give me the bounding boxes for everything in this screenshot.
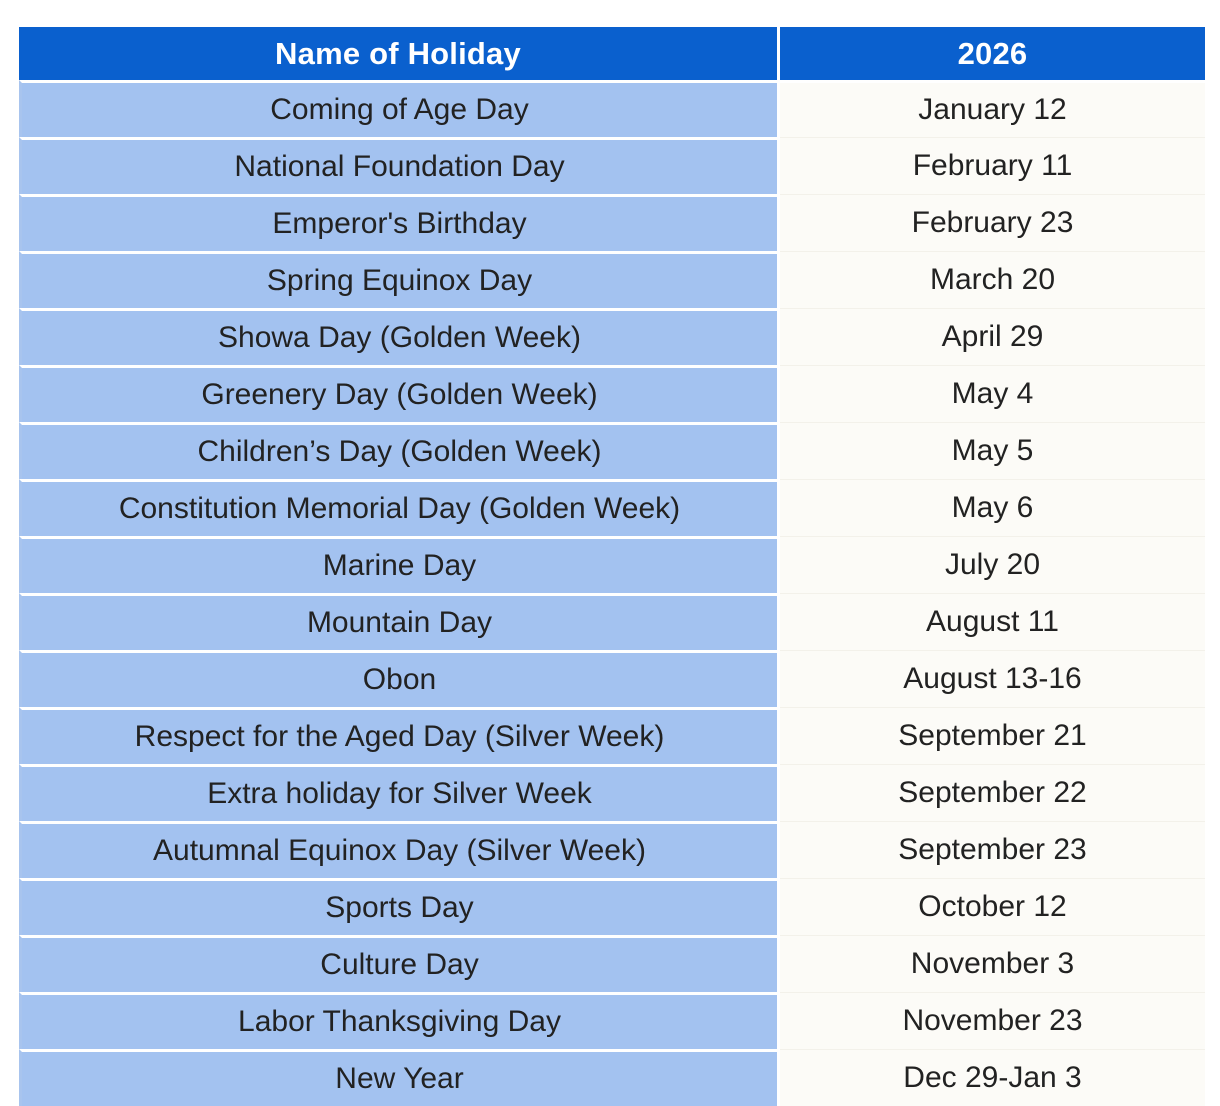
table-row: ObonAugust 13-16 [19, 650, 1205, 707]
table-row: Mountain DayAugust 11 [19, 593, 1205, 650]
holiday-date-cell: September 21 [780, 707, 1205, 764]
holiday-date-cell: September 23 [780, 821, 1205, 878]
page-root: Name of Holiday 2026 Coming of Age DayJa… [0, 0, 1220, 1082]
table-row: Constitution Memorial Day (Golden Week)M… [19, 479, 1205, 536]
holiday-name-cell: Marine Day [19, 536, 780, 593]
holiday-name-cell: Coming of Age Day [19, 80, 780, 137]
holiday-date-cell: October 12 [780, 878, 1205, 935]
holiday-name-cell: Constitution Memorial Day (Golden Week) [19, 479, 780, 536]
holiday-date-cell: August 11 [780, 593, 1205, 650]
holiday-date-cell: May 5 [780, 422, 1205, 479]
holiday-name-cell: Emperor's Birthday [19, 194, 780, 251]
table-row: Showa Day (Golden Week)April 29 [19, 308, 1205, 365]
table-row: Sports DayOctober 12 [19, 878, 1205, 935]
holiday-date-cell: May 4 [780, 365, 1205, 422]
table-row: Extra holiday for Silver WeekSeptember 2… [19, 764, 1205, 821]
holiday-name-cell: Obon [19, 650, 780, 707]
table-row: Respect for the Aged Day (Silver Week)Se… [19, 707, 1205, 764]
holiday-date-cell: Dec 29-Jan 3 [780, 1049, 1205, 1106]
holiday-date-cell: November 23 [780, 992, 1205, 1049]
header-row: Name of Holiday 2026 [19, 27, 1205, 80]
holiday-date-cell: February 11 [780, 137, 1205, 194]
holiday-table: Name of Holiday 2026 Coming of Age DayJa… [19, 27, 1205, 1106]
table-row: Marine DayJuly 20 [19, 536, 1205, 593]
table-row: Labor Thanksgiving DayNovember 23 [19, 992, 1205, 1049]
holiday-date-cell: February 23 [780, 194, 1205, 251]
table-row: Culture DayNovember 3 [19, 935, 1205, 992]
holiday-name-cell: Labor Thanksgiving Day [19, 992, 780, 1049]
holiday-date-cell: March 20 [780, 251, 1205, 308]
holiday-name-cell: National Foundation Day [19, 137, 780, 194]
table-row: Emperor's BirthdayFebruary 23 [19, 194, 1205, 251]
holiday-name-cell: Autumnal Equinox Day (Silver Week) [19, 821, 780, 878]
table-header: Name of Holiday 2026 [19, 27, 1205, 80]
holiday-date-cell: September 22 [780, 764, 1205, 821]
holiday-name-cell: Showa Day (Golden Week) [19, 308, 780, 365]
table-row: Greenery Day (Golden Week)May 4 [19, 365, 1205, 422]
table-row: Children’s Day (Golden Week)May 5 [19, 422, 1205, 479]
holiday-name-cell: Mountain Day [19, 593, 780, 650]
table-row: Autumnal Equinox Day (Silver Week)Septem… [19, 821, 1205, 878]
table-body: Coming of Age DayJanuary 12National Foun… [19, 80, 1205, 1106]
holiday-date-cell: May 6 [780, 479, 1205, 536]
holiday-name-cell: Respect for the Aged Day (Silver Week) [19, 707, 780, 764]
column-header-year: 2026 [780, 27, 1205, 80]
holiday-date-cell: January 12 [780, 80, 1205, 137]
holiday-date-cell: April 29 [780, 308, 1205, 365]
holiday-name-cell: Culture Day [19, 935, 780, 992]
table-row: Spring Equinox DayMarch 20 [19, 251, 1205, 308]
holiday-name-cell: Greenery Day (Golden Week) [19, 365, 780, 422]
holiday-date-cell: July 20 [780, 536, 1205, 593]
column-header-name-of-holiday: Name of Holiday [19, 27, 780, 80]
table-row: Coming of Age DayJanuary 12 [19, 80, 1205, 137]
holiday-date-cell: August 13-16 [780, 650, 1205, 707]
holiday-name-cell: Children’s Day (Golden Week) [19, 422, 780, 479]
holiday-name-cell: Spring Equinox Day [19, 251, 780, 308]
table-row: National Foundation DayFebruary 11 [19, 137, 1205, 194]
table-row: New YearDec 29-Jan 3 [19, 1049, 1205, 1106]
holiday-name-cell: New Year [19, 1049, 780, 1106]
holiday-name-cell: Sports Day [19, 878, 780, 935]
holiday-name-cell: Extra holiday for Silver Week [19, 764, 780, 821]
holiday-date-cell: November 3 [780, 935, 1205, 992]
